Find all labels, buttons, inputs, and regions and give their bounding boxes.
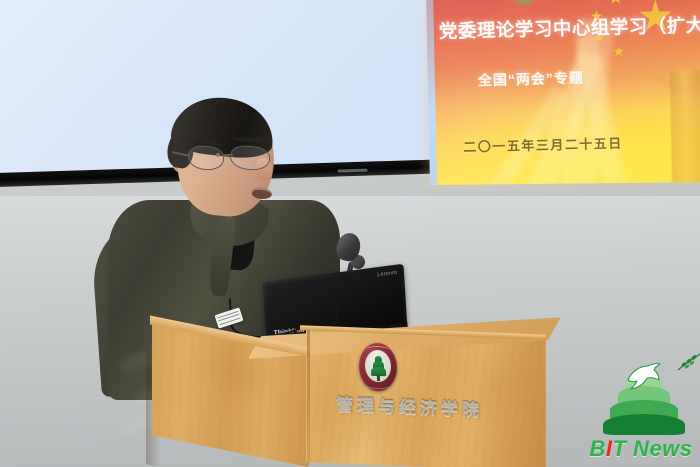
glasses-bridge (223, 154, 233, 156)
wm-b: B (589, 436, 605, 461)
watermark-text: BIT News (582, 436, 700, 462)
slide-date: 二〇一五年三月二十五日 (463, 133, 623, 156)
olive-branch-icon (676, 352, 700, 372)
photo-canvas: 党委理论学习中心组学习（扩大）会议 全国“两会”专题 二〇一五年三月二十五日 (0, 0, 700, 467)
glasses-lens-left (187, 144, 225, 172)
wm-t: T (612, 436, 626, 461)
glasses-lens-right (229, 144, 271, 172)
huabiao-column-icon (670, 70, 700, 185)
wm-news: News (626, 436, 692, 461)
pine-tree-icon (369, 356, 386, 380)
projected-slide: 党委理论学习中心组学习（扩大）会议 全国“两会”专题 二〇一五年三月二十五日 (426, 0, 700, 185)
crest-bottom-arc (365, 379, 391, 389)
dove-icon (622, 358, 666, 392)
crest-top-arc (366, 345, 390, 355)
slide-subtitle: 全国“两会”专题 (478, 68, 585, 91)
podium-panel-seam (307, 330, 310, 466)
school-crest-icon (359, 343, 398, 392)
bit-news-watermark: BIT News (582, 356, 700, 467)
eyeglasses-icon (186, 146, 282, 172)
